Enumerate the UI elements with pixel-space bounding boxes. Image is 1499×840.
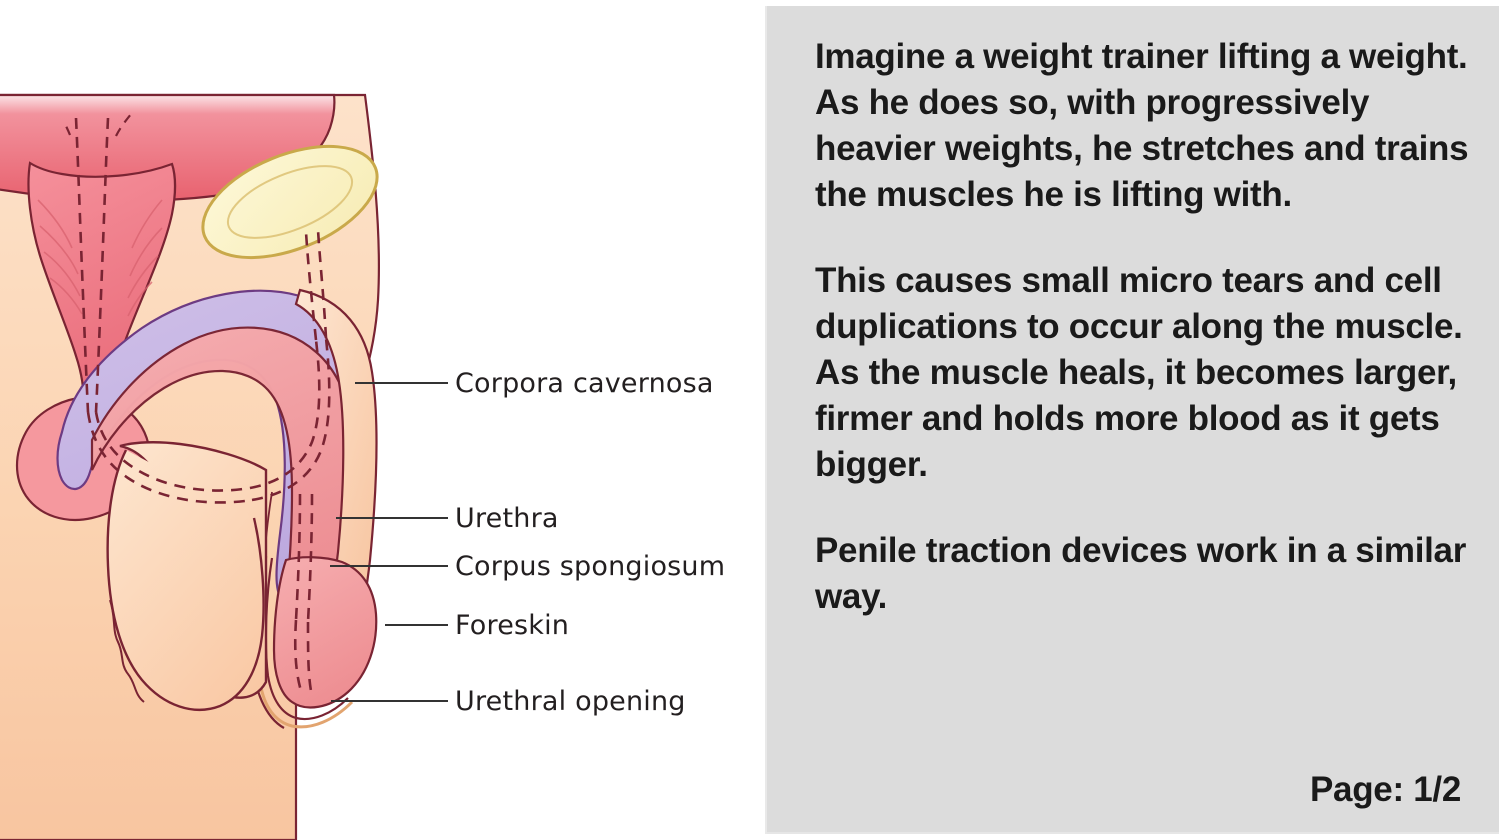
label-urethra: Urethra bbox=[455, 503, 559, 534]
paragraph-weight-trainer: Imagine a weight trainer lifting a weigh… bbox=[815, 34, 1475, 218]
paragraph-traction-devices: Penile traction devices work in a simila… bbox=[815, 528, 1475, 620]
label-corpora-cavernosa: Corpora cavernosa bbox=[455, 368, 714, 399]
anatomy-figure-panel: Corpora cavernosa Urethra Corpus spongio… bbox=[0, 0, 757, 840]
paragraph-micro-tears: This causes small micro tears and cell d… bbox=[815, 258, 1475, 488]
screenshot-root: Corpora cavernosa Urethra Corpus spongio… bbox=[0, 0, 1499, 840]
instruction-text-panel: Imagine a weight trainer lifting a weigh… bbox=[765, 6, 1499, 834]
page-indicator: Page: 1/2 bbox=[1310, 770, 1461, 810]
instruction-text-body: Imagine a weight trainer lifting a weigh… bbox=[815, 34, 1475, 620]
label-foreskin: Foreskin bbox=[455, 610, 569, 641]
label-urethral-opening: Urethral opening bbox=[455, 686, 686, 717]
label-corpus-spongiosum: Corpus spongiosum bbox=[455, 551, 725, 582]
